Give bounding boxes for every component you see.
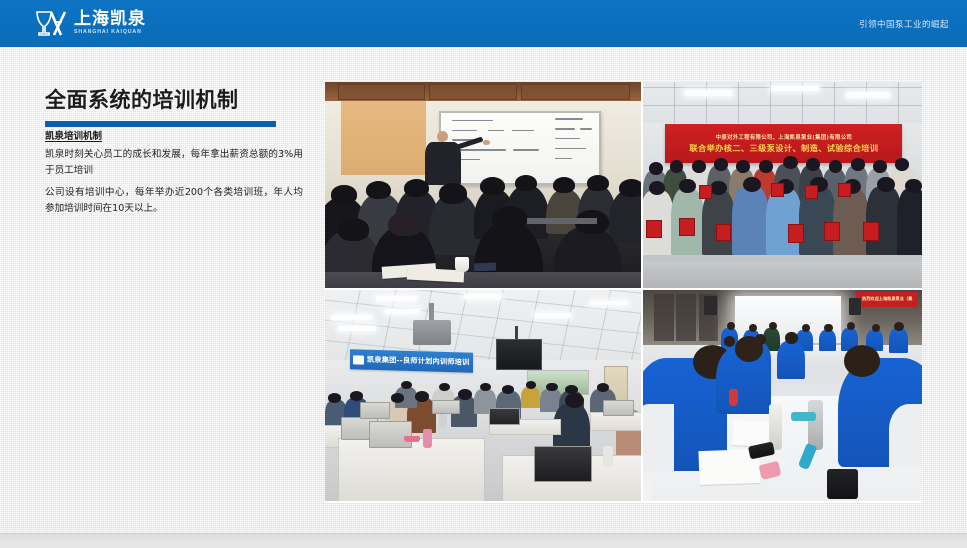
wall-monitor — [496, 339, 542, 371]
welcome-sign: 热烈欢迎上海凯泉泵业（集 — [856, 292, 917, 307]
photo-computer-classroom: 凯泉集团--良师计划内训师培训 — [325, 290, 641, 501]
kaiquan-pump-logo-icon — [34, 10, 68, 37]
logo-text-en: SHANGHAI KAIQUAN — [74, 30, 146, 35]
logo-text-cn: 上海凯泉 — [74, 11, 146, 28]
photo-workshop-training: 热烈欢迎上海凯泉泵业（集 — [643, 290, 922, 501]
wall-accent — [341, 101, 426, 175]
body-text-block: 凯泉培训机制 凯泉时刻关心员工的成长和发展，每年拿出薪资总额的3%用于员工培训 … — [45, 128, 303, 223]
banner-line-1: 中原对外工程有限公司、上海凯泉泵业(集团)有限公司 — [716, 133, 852, 141]
projector — [413, 320, 451, 345]
ceiling-panel — [429, 84, 516, 99]
classroom-banner: 凯泉集团--良师计划内训师培训 — [350, 349, 473, 373]
logo-text: 上海凯泉 SHANGHAI KAIQUAN — [74, 11, 146, 35]
welcome-sign-text: 热烈欢迎上海凯泉泵业（集 — [862, 296, 912, 302]
photo-grid: 中原对外工程有限公司、上海凯泉泵业(集团)有限公司 联合举办核二、三级泵设计、制… — [325, 82, 922, 503]
page-title: 全面系统的培训机制 — [45, 84, 313, 114]
banner-logo-icon — [353, 355, 364, 364]
floor — [643, 261, 922, 288]
projector-mount — [429, 303, 433, 322]
banner-line-2: 联合举办核二、三级泵设计、制造、试验综合培训 — [689, 142, 878, 154]
ceiling-panel — [521, 84, 630, 99]
body-subheading: 凯泉培训机制 — [45, 128, 303, 142]
body-paragraph-1: 凯泉时刻关心员工的成长和发展，每年拿出薪资总额的3%用于员工培训 — [45, 147, 303, 178]
company-logo: 上海凯泉 SHANGHAI KAIQUAN — [34, 9, 146, 38]
slide-viewer: 上海凯泉 SHANGHAI KAIQUAN 引领中国泵工业的崛起 全面系统的培训… — [0, 0, 967, 547]
slide-header-band: 上海凯泉 SHANGHAI KAIQUAN 引领中国泵工业的崛起 — [0, 0, 967, 47]
photo-group-certificate: 中原对外工程有限公司、上海凯泉泵业(集团)有限公司 联合举办核二、三级泵设计、制… — [643, 82, 922, 288]
presentation-slide: 上海凯泉 SHANGHAI KAIQUAN 引领中国泵工业的崛起 全面系统的培训… — [0, 0, 967, 533]
instructor-head — [437, 131, 448, 142]
viewer-bottom-bar — [0, 533, 967, 548]
photo-lecture-hall — [325, 82, 641, 288]
header-slogan: 引领中国泵工业的崛起 — [859, 0, 949, 47]
ceiling-panel — [338, 84, 425, 99]
title-underline-rule — [45, 121, 276, 127]
body-paragraph-2: 公司设有培训中心，每年举办近200个各类培训班，年人均参加培训时间在10天以上。 — [45, 185, 303, 216]
banner-text: 凯泉集团--良师计划内训师培训 — [367, 355, 469, 368]
title-block: 全面系统的培训机制 — [45, 84, 313, 127]
